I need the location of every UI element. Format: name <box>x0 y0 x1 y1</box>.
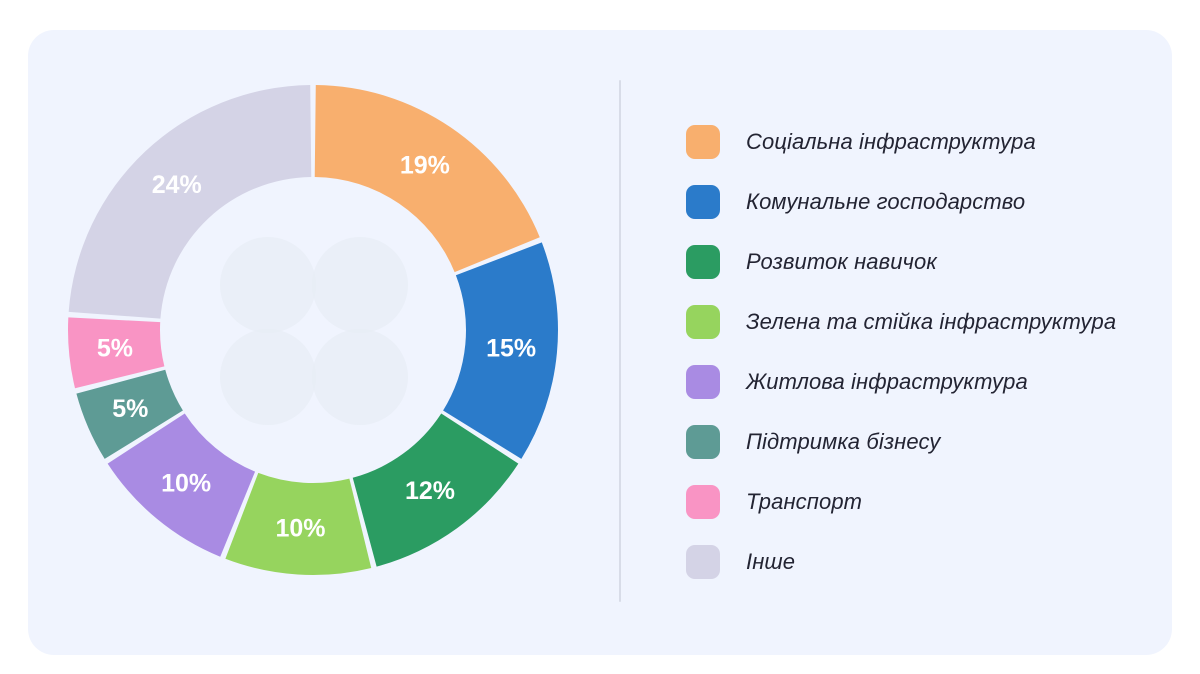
legend-item[interactable]: Соціальна інфраструктура <box>686 112 1156 172</box>
slice-value-label: 10% <box>275 515 325 543</box>
legend-item-label: Зелена та стійка інфраструктура <box>746 309 1116 335</box>
legend-item-label: Інше <box>746 549 795 575</box>
slice-value-label: 12% <box>405 477 455 505</box>
donut-chart-area: 19%15%12%10%10%5%5%24% <box>28 30 619 655</box>
legend-item-label: Соціальна інфраструктура <box>746 129 1036 155</box>
slice-value-label: 19% <box>400 151 450 179</box>
legend-color-swatch <box>686 245 720 279</box>
legend-color-swatch <box>686 185 720 219</box>
legend-item[interactable]: Комунальне господарство <box>686 172 1156 232</box>
legend-item-label: Житлова інфраструктура <box>746 369 1028 395</box>
donut-slices <box>68 85 558 575</box>
center-decor-circle-bottom-left <box>220 329 316 425</box>
legend-item-label: Розвиток навичок <box>746 249 937 275</box>
legend-item-label: Комунальне господарство <box>746 189 1025 215</box>
legend-color-swatch <box>686 485 720 519</box>
legend-item[interactable]: Підтримка бізнесу <box>686 412 1156 472</box>
legend-color-swatch <box>686 365 720 399</box>
slice-value-label: 5% <box>112 395 148 423</box>
slice-value-label: 10% <box>161 469 211 497</box>
slice-value-label: 24% <box>152 171 202 199</box>
legend-item[interactable]: Житлова інфраструктура <box>686 352 1156 412</box>
legend-color-swatch <box>686 545 720 579</box>
center-decor-circle-top-right <box>312 237 408 333</box>
center-decor-circle-bottom-right <box>312 329 408 425</box>
chart-card: 19%15%12%10%10%5%5%24% Соціальна інфраст… <box>28 30 1172 655</box>
legend-color-swatch <box>686 425 720 459</box>
slice-value-label: 15% <box>486 335 536 363</box>
legend-item[interactable]: Розвиток навичок <box>686 232 1156 292</box>
slice-value-label: 5% <box>97 335 133 363</box>
legend-item-label: Підтримка бізнесу <box>746 429 940 455</box>
vertical-divider <box>619 80 621 602</box>
legend-item[interactable]: Транспорт <box>686 472 1156 532</box>
chart-legend: Соціальна інфраструктураКомунальне госпо… <box>686 112 1156 592</box>
legend-item[interactable]: Зелена та стійка інфраструктура <box>686 292 1156 352</box>
legend-color-swatch <box>686 305 720 339</box>
donut-chart: 19%15%12%10%10%5%5%24% <box>63 80 563 580</box>
legend-item[interactable]: Інше <box>686 532 1156 592</box>
legend-color-swatch <box>686 125 720 159</box>
center-decor-circle-top-left <box>220 237 316 333</box>
legend-item-label: Транспорт <box>746 489 862 515</box>
